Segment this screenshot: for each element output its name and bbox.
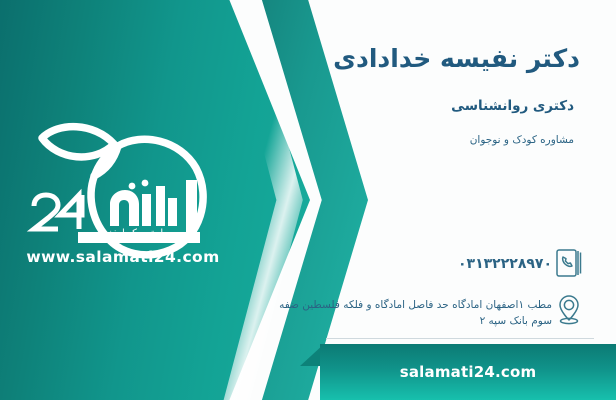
banner-website-text: salamati24.com [400, 363, 537, 381]
doctor-name: دکتر نفیسه خدادادی [333, 44, 580, 73]
website-banner[interactable]: salamati24.com [320, 344, 616, 400]
divider [326, 338, 594, 339]
doctor-specialty: مشاوره کودک و نوجوان [470, 134, 574, 146]
logo-tagline: براحتی یک لبخند [104, 228, 228, 239]
address-text: مطب ۱اصفهان امادگاه حد فاصل امادگاه و فل… [266, 292, 552, 330]
contact-row-phone: ۰۳۱۳۲۲۲۸۹۷۰ [266, 246, 586, 280]
location-pin-icon [552, 292, 586, 326]
business-card: براحتی یک لبخند www.salamati24.com دکتر … [0, 0, 616, 400]
contact-row-address: مطب ۱اصفهان امادگاه حد فاصل امادگاه و فل… [266, 292, 586, 330]
logo-website[interactable]: www.salamati24.com [18, 248, 228, 266]
doctor-degree: دکتری روانشناسی [451, 98, 574, 114]
phone-book-icon [552, 246, 586, 280]
phone-number[interactable]: ۰۳۱۳۲۲۲۸۹۷۰ [266, 246, 552, 276]
contact-block: ۰۳۱۳۲۲۲۸۹۷۰ مطب ۱اصفهان امادگاه حد فاصل … [266, 246, 586, 342]
